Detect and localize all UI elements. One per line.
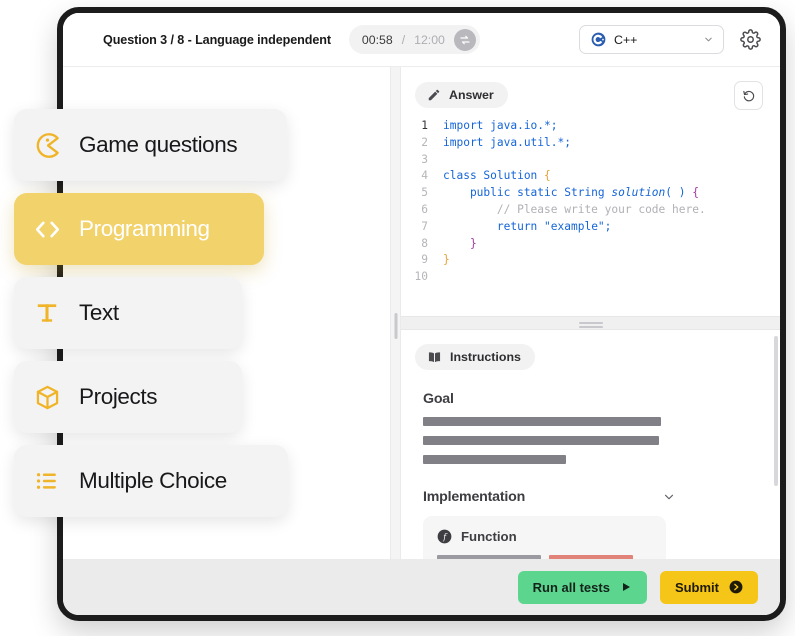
code-token: }: [470, 237, 477, 250]
code-line: 4class Solution {: [401, 168, 780, 185]
code-line-number: 7: [401, 219, 443, 236]
code-line-text: [443, 152, 780, 169]
run-all-tests-button[interactable]: Run all tests: [518, 571, 647, 604]
timer-separator: /: [402, 33, 405, 47]
screenshot-root: Question 3 / 8 - Language independent 00…: [0, 0, 795, 636]
code-line-number: 5: [401, 185, 443, 202]
code-token: solution: [611, 186, 665, 199]
timer-widget: 00:58 / 12:00: [349, 25, 480, 54]
pacman-icon: [32, 132, 62, 159]
pencil-icon: [427, 88, 441, 102]
chevron-down-icon[interactable]: [662, 490, 676, 504]
code-line-number: 10: [401, 269, 443, 286]
implementation-heading: Implementation: [423, 489, 662, 505]
submit-label: Submit: [675, 580, 719, 595]
submit-button[interactable]: Submit: [660, 571, 758, 604]
function-placeholder-bar-accent: [549, 555, 633, 559]
goal-heading: Goal: [423, 391, 758, 407]
tab-answer[interactable]: Answer: [415, 82, 508, 108]
goal-placeholder-bar: [423, 417, 661, 426]
code-token: {: [692, 186, 699, 199]
list-icon: [32, 468, 62, 494]
tab-instructions-label: Instructions: [450, 350, 521, 364]
play-triangle-icon: [620, 581, 632, 593]
gear-icon[interactable]: [738, 28, 762, 52]
footer-bar: Run all tests Submit: [63, 559, 780, 615]
category-card-proj[interactable]: Projects: [14, 361, 242, 433]
code-line-number: 9: [401, 252, 443, 269]
function-card: f Function: [423, 516, 666, 559]
code-token: {: [544, 169, 551, 182]
goal-placeholder-bar: [423, 455, 566, 464]
top-bar: Question 3 / 8 - Language independent 00…: [63, 13, 780, 66]
code-line-text: return "example";: [443, 219, 780, 236]
code-line-text: class Solution {: [443, 168, 780, 185]
code-token: "example";: [544, 220, 611, 233]
code-line-number: 1: [401, 118, 443, 135]
code-line-number: 2: [401, 135, 443, 152]
category-card-list: Game questionsProgrammingTextProjectsMul…: [14, 109, 294, 517]
vertical-splitter-grip[interactable]: [394, 313, 397, 339]
code-line-number: 4: [401, 168, 443, 185]
category-card-mc[interactable]: Multiple Choice: [14, 445, 288, 517]
category-card-label: Programming: [79, 216, 210, 242]
code-line-number: 3: [401, 152, 443, 169]
code-token: }: [443, 253, 450, 266]
book-icon: [427, 350, 442, 365]
chevron-down-icon: [703, 34, 714, 45]
code-line-text: // Please write your code here.: [443, 202, 780, 219]
code-line: 5 public static String solution( ) {: [401, 185, 780, 202]
tab-instructions[interactable]: Instructions: [415, 344, 535, 370]
code-line-text: import java.util.*;: [443, 135, 780, 152]
code-token: import java.io.*;: [443, 119, 558, 132]
category-card-label: Projects: [79, 384, 157, 410]
function-card-label: Function: [461, 529, 517, 544]
code-line-text: }: [443, 236, 780, 253]
right-editor-pane: Answer 1import java.io.*;2import java.ut…: [401, 67, 780, 559]
code-line: 6 // Please write your code here.: [401, 202, 780, 219]
code-token: public static String: [443, 186, 611, 199]
code-line: 2import java.util.*;: [401, 135, 780, 152]
language-select-value: C++: [614, 33, 695, 47]
cube-icon: [32, 384, 62, 411]
timer-total: 12:00: [414, 33, 445, 47]
category-card-label: Multiple Choice: [79, 468, 227, 494]
arrow-right-circle-icon: [729, 580, 743, 594]
timer-elapsed: 00:58: [362, 33, 393, 47]
code-line-text: [443, 269, 780, 286]
horizontal-splitter-grip[interactable]: [579, 322, 603, 324]
code-line: 3: [401, 152, 780, 169]
code-line-number: 6: [401, 202, 443, 219]
function-placeholder-bar: [437, 555, 541, 559]
instructions-scrollbar[interactable]: [774, 336, 778, 486]
category-card-label: Game questions: [79, 132, 237, 158]
function-f-icon: f: [437, 529, 452, 544]
code-line: 7 return "example";: [401, 219, 780, 236]
code-line-number: 8: [401, 236, 443, 253]
run-all-tests-label: Run all tests: [533, 580, 610, 595]
code-line: 9}: [401, 252, 780, 269]
code-token: import java.util.*;: [443, 136, 571, 149]
code-token: ( ): [665, 186, 692, 199]
code-line: 1import java.io.*;: [401, 118, 780, 135]
tab-answer-label: Answer: [449, 88, 494, 102]
reset-code-button[interactable]: [734, 81, 763, 110]
code-line-text: import java.io.*;: [443, 118, 780, 135]
category-card-text[interactable]: Text: [14, 277, 242, 349]
vertical-splitter[interactable]: [390, 67, 401, 559]
goal-placeholder-bar: [423, 436, 659, 445]
code-token: return: [443, 220, 544, 233]
cpp-logo-icon: [591, 32, 606, 47]
code-brackets-icon: [32, 215, 62, 244]
code-token: // Please write your code here.: [443, 203, 706, 216]
code-line: 10: [401, 269, 780, 286]
category-card-prog[interactable]: Programming: [14, 193, 264, 265]
page-title: Question 3 / 8 - Language independent: [103, 33, 331, 47]
reset-arrow-icon: [742, 89, 756, 103]
code-line: 8 }: [401, 236, 780, 253]
code-content[interactable]: 1import java.io.*;2import java.util.*;3 …: [401, 118, 780, 286]
code-line-text: }: [443, 252, 780, 269]
code-token: [443, 237, 470, 250]
language-select[interactable]: C++: [579, 25, 724, 54]
swap-arrows-icon[interactable]: [454, 29, 476, 51]
instructions-panel: Instructions Goal Implementation: [401, 330, 780, 559]
serif-t-icon: [32, 300, 62, 326]
code-token: class Solution: [443, 169, 544, 182]
category-card-label: Text: [79, 300, 119, 326]
code-editor: Answer 1import java.io.*;2import java.ut…: [401, 67, 780, 316]
code-line-text: public static String solution( ) {: [443, 185, 780, 202]
category-card-game[interactable]: Game questions: [14, 109, 287, 181]
horizontal-splitter[interactable]: [401, 316, 780, 330]
